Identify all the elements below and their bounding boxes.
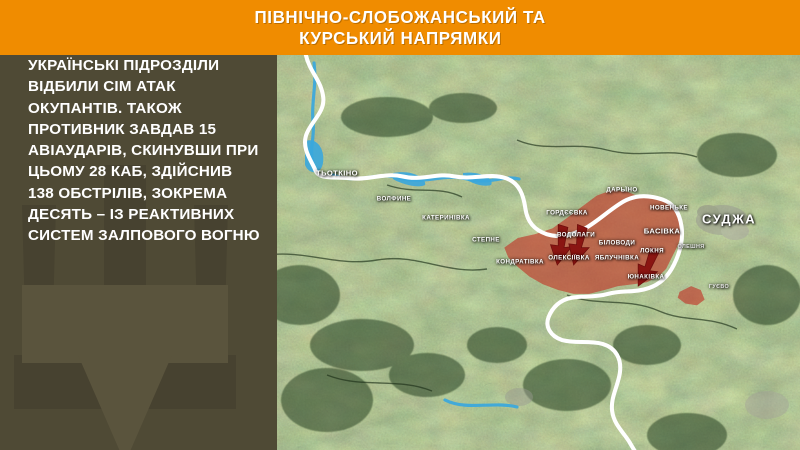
header-title-line2: КУРСЬКИЙ НАПРЯМКИ xyxy=(299,28,501,49)
trident-body xyxy=(22,285,228,363)
header-title-line1: ПІВНІЧНО-СЛОБОЖАНСЬКИЙ ТА xyxy=(254,7,545,28)
advance-arrow-1 xyxy=(551,225,572,265)
advance-arrows-layer xyxy=(277,55,800,450)
header-banner: ПІВНІЧНО-СЛОБОЖАНСЬКИЙ ТА КУРСЬКИЙ НАПРЯ… xyxy=(0,0,800,55)
summary-panel: УКРАЇНСЬКІ ПІДРОЗДІЛИ ВІДБИЛИ СІМ АТАК О… xyxy=(0,55,277,450)
summary-text: УКРАЇНСЬКІ ПІДРОЗДІЛИ ВІДБИЛИ СІМ АТАК О… xyxy=(28,55,260,247)
infographic-root: ПІВНІЧНО-СЛОБОЖАНСЬКИЙ ТА КУРСЬКИЙ НАПРЯ… xyxy=(0,0,800,450)
advance-arrow-3 xyxy=(638,248,659,287)
map-area[interactable]: ТЬОТКІНОВОЛФИНЕКАТЕРИНІВКАСТЕПНЕКОНДРАТІ… xyxy=(277,55,800,450)
advance-arrow-2 xyxy=(569,225,589,265)
